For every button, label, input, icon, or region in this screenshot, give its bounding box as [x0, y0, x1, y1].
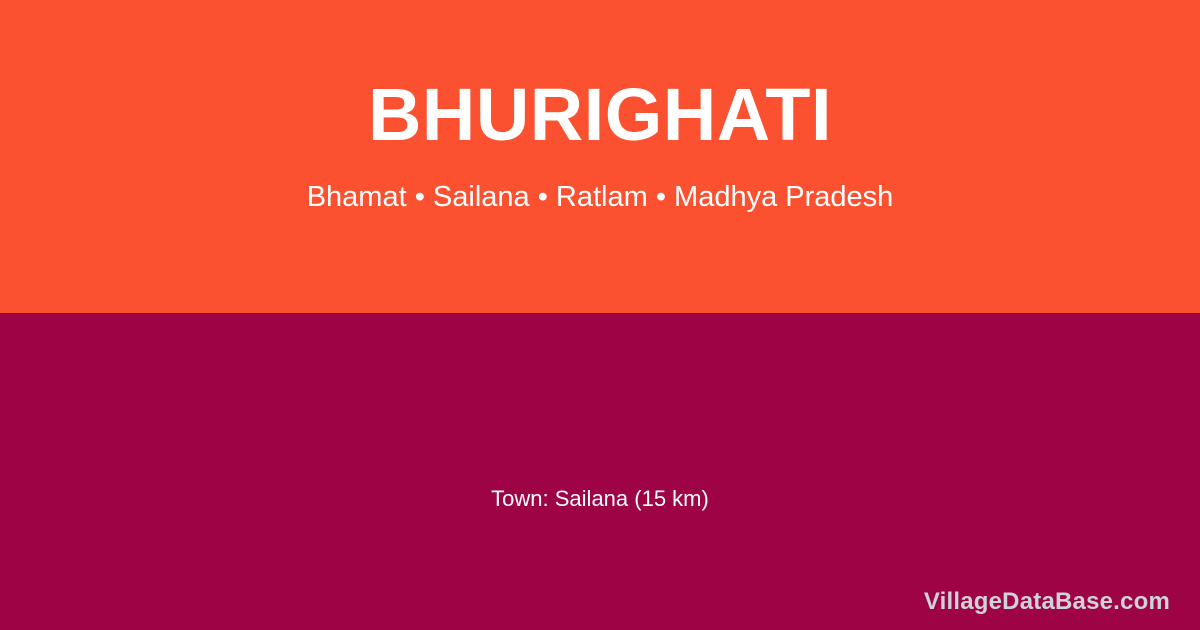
nearest-town-fact: Town: Sailana (15 km): [0, 486, 1200, 512]
page-title: BHURIGHATI: [368, 0, 832, 152]
village-info-card: BHURIGHATI Bhamat • Sailana • Ratlam • M…: [0, 0, 1200, 630]
site-brand: VillageDataBase.com: [924, 588, 1170, 616]
hero-banner: BHURIGHATI Bhamat • Sailana • Ratlam • M…: [0, 0, 1200, 313]
breadcrumb: Bhamat • Sailana • Ratlam • Madhya Prade…: [307, 152, 894, 215]
details-panel: Town: Sailana (15 km): [0, 313, 1200, 630]
